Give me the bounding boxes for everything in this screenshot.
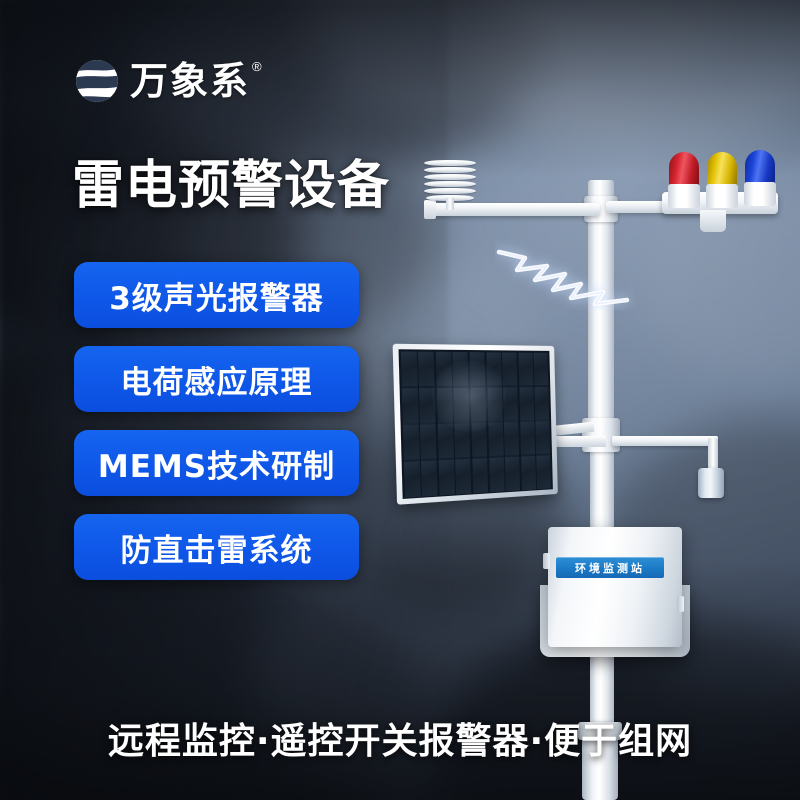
footer-tagline: 远程监控·遥控开关报警器·便于组网: [108, 712, 692, 764]
registered-mark: ®: [252, 60, 262, 73]
feature-badge-4: 防直击雷系统: [74, 514, 359, 580]
feature-badge-3: MEMS技术研制: [74, 430, 359, 496]
brand-name: 万象系: [130, 62, 250, 100]
brand-logo: 万象系 ®: [74, 58, 262, 104]
globe-swoosh-logo-icon: [74, 58, 120, 104]
feature-badge-2: 电荷感应原理: [74, 346, 359, 412]
feature-badge-list: 3级声光报警器 电荷感应原理 MEMS技术研制 防直击雷系统: [74, 262, 359, 580]
product-poster: 环境监测站 万象系 ® 雷电预警设备 3级声光报警器 电荷感应原理 MEMS技术…: [0, 0, 800, 800]
feature-badge-1: 3级声光报警器: [74, 262, 359, 328]
page-title: 雷电预警设备: [72, 160, 390, 212]
